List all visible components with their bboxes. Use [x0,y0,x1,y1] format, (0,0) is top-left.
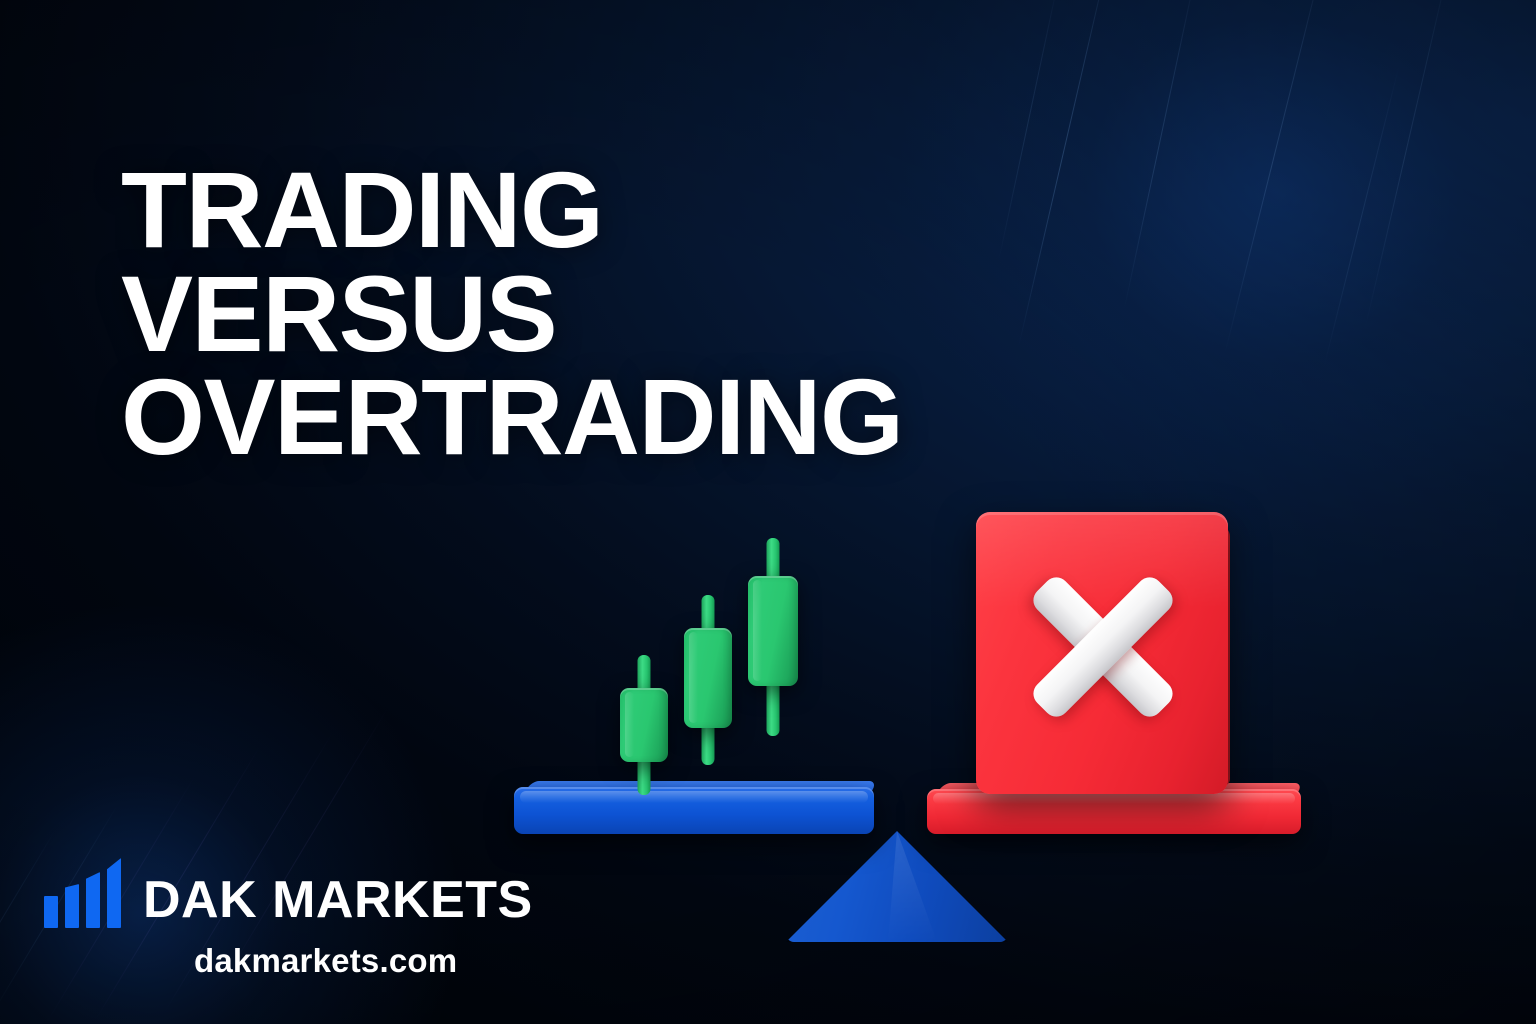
page-title: TRADING VERSUS OVERTRADING [121,158,903,469]
candlestick-1 [620,655,668,795]
candlestick-3-body [748,576,798,686]
title-line-1: TRADING [121,158,903,262]
logo-bar-3 [86,872,100,928]
candlestick-1-body [620,688,668,762]
candlestick-2-body [684,628,732,728]
poster-canvas: TRADING VERSUS OVERTRADING [0,0,1536,1024]
brand-logo-block: DAK MARKETS dakmarkets.com [44,866,533,980]
brand-logo-row: DAK MARKETS [44,866,533,928]
title-line-3: OVERTRADING [121,365,903,469]
logo-bar-2 [65,884,79,928]
bar-chart-ascending-icon [44,866,121,928]
brand-name: DAK MARKETS [143,874,533,928]
title-line-2: VERSUS [121,262,903,366]
logo-bar-4 [107,858,121,928]
candlestick-3 [748,538,798,736]
brand-url: dakmarkets.com [194,942,533,980]
candlestick-2 [684,595,732,765]
logo-bar-1 [44,896,58,928]
